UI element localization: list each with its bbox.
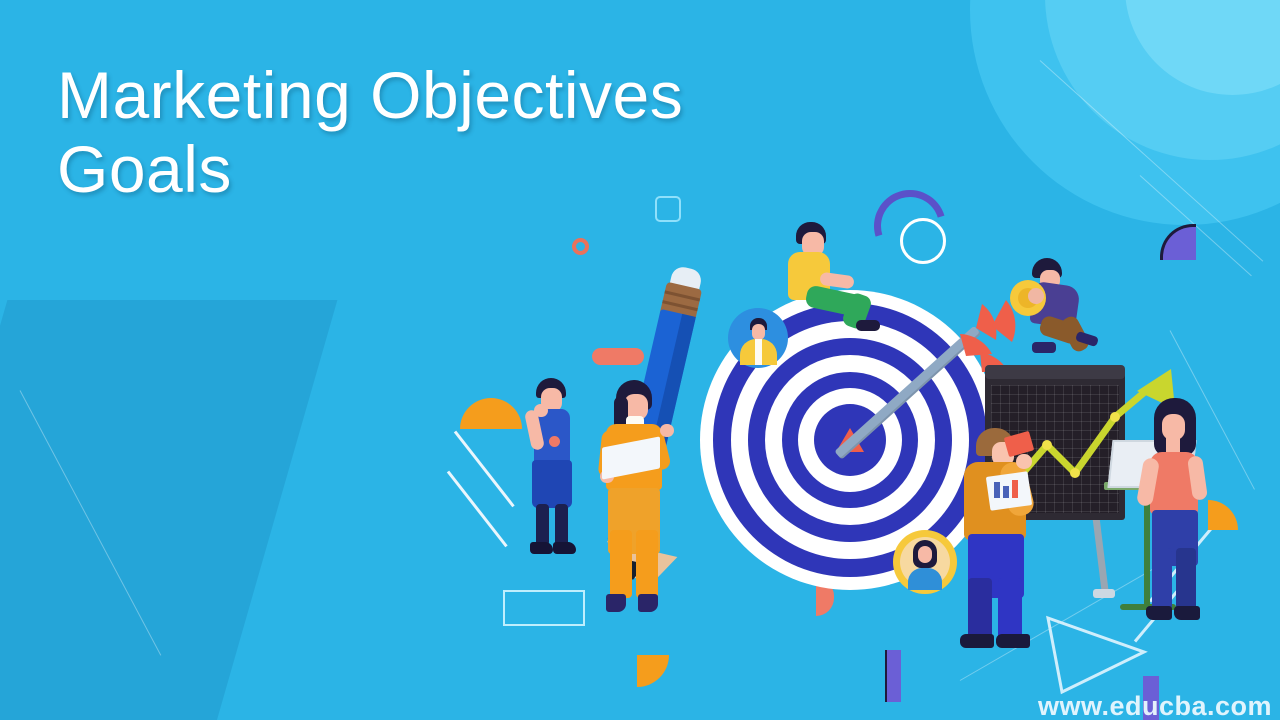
corner-arc-inner — [1125, 0, 1280, 95]
orange-dome-icon — [460, 398, 522, 429]
hairline-5 — [447, 471, 508, 548]
watermark: www.educba.com — [1038, 691, 1272, 720]
character-runner-with-idea — [1010, 258, 1120, 363]
rect-outline-icon — [503, 590, 585, 626]
held-chart-paper — [986, 471, 1032, 511]
hairline-1 — [1040, 60, 1264, 261]
corner-arc-middle — [1045, 0, 1280, 160]
banner-canvas: Marketing Objectives Goals — [0, 0, 1280, 720]
orange-quarter-icon — [637, 655, 669, 687]
avatar-badge-bottom — [893, 530, 957, 594]
hairline-2 — [1140, 175, 1252, 276]
purple-bar-icon — [885, 650, 901, 702]
coral-ring-icon — [572, 238, 589, 255]
hairline-3 — [20, 390, 162, 655]
character-woman-orange-suit — [598, 380, 678, 615]
corner-arc-outer — [970, 0, 1280, 225]
coral-pill-icon — [592, 348, 644, 365]
character-woman-at-laptop — [1140, 398, 1220, 628]
white-circle-icon — [900, 218, 946, 264]
avatar-badge-top — [728, 308, 788, 368]
character-thinker — [524, 378, 584, 560]
purple-quarter-icon — [1160, 224, 1196, 260]
character-person-on-target — [780, 222, 890, 332]
character-man-with-chart — [958, 428, 1050, 654]
page-title: Marketing Objectives Goals — [57, 58, 683, 206]
hairline-4 — [454, 431, 515, 508]
corner-panel-light — [0, 330, 147, 720]
corner-panel-dark — [0, 300, 337, 720]
